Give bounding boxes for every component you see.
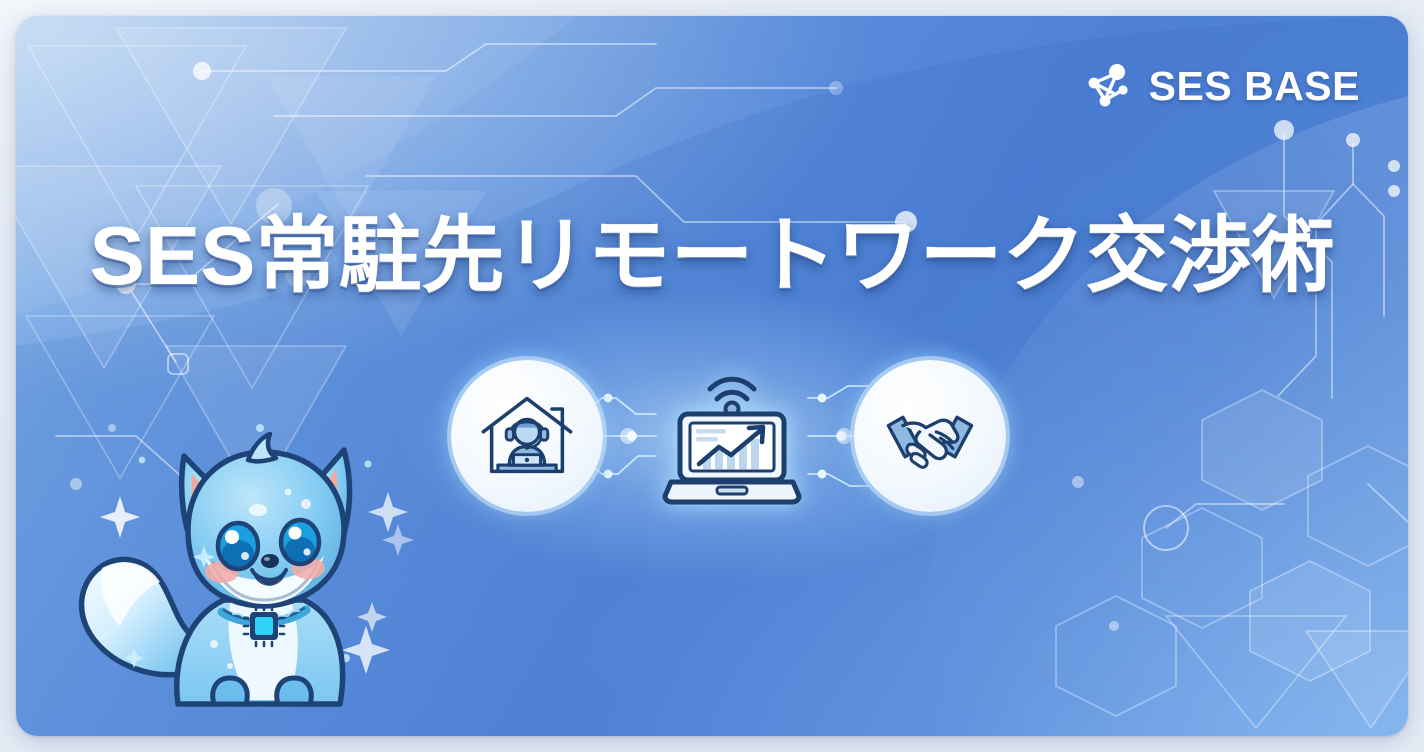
brand-logo[interactable]: SES BASE	[1083, 60, 1360, 112]
fox-illustration	[72, 404, 422, 734]
brand-name: SES BASE	[1149, 63, 1360, 110]
remote-work-home-icon-bubble	[451, 360, 603, 512]
network-nodes-icon	[1083, 60, 1135, 112]
handshake-icon-bubble	[854, 360, 1006, 512]
hero-title-area: SES常駐先リモートワーク交渉術	[16, 212, 1408, 299]
laptop-growth-chart-icon-wrap	[656, 364, 808, 510]
screenshot-root: SES BASE SES常駐先リモートワーク交渉術	[0, 0, 1424, 752]
remote-work-home-icon	[475, 384, 579, 488]
handshake-icon	[878, 384, 982, 488]
page-title: SES常駐先リモートワーク交渉術	[89, 212, 1334, 299]
blue-fox-mascot	[72, 404, 422, 734]
laptop-growth-chart-icon	[657, 364, 807, 510]
hero-banner-card: SES BASE SES常駐先リモートワーク交渉術	[16, 16, 1408, 736]
